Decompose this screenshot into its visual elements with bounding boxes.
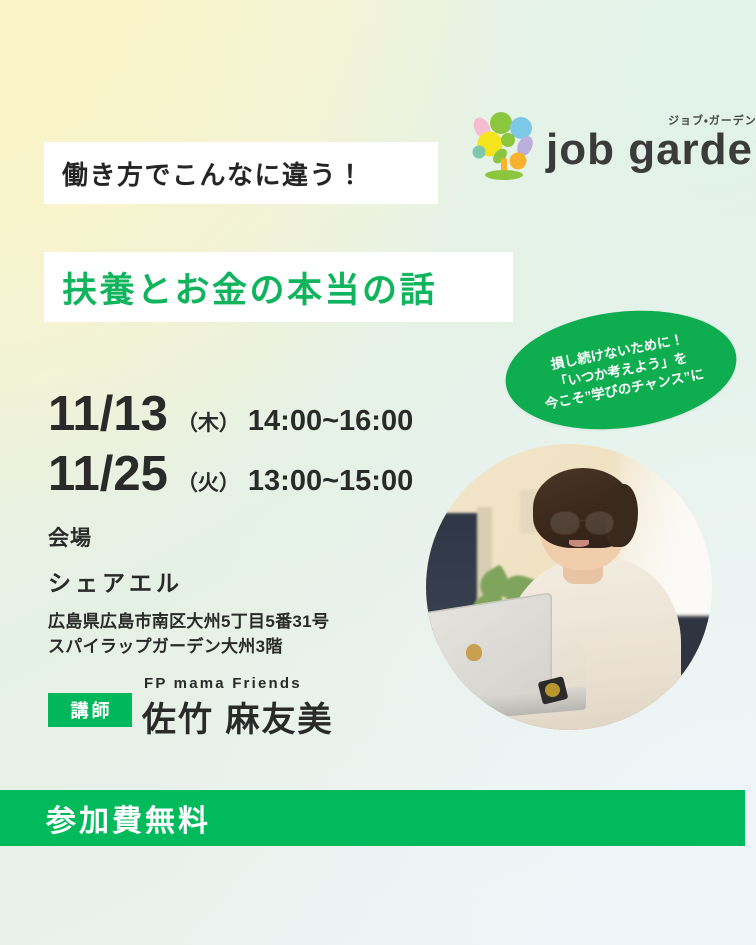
schedule-time: 13:00~15:00 xyxy=(248,465,413,498)
logo-wordmark-text: job garden xyxy=(546,126,756,174)
schedule-day-of-week: （木） xyxy=(177,407,240,437)
schedule-date: 11/25 xyxy=(48,446,168,502)
headline-sub-plate: 働き方でこんなに違う！ xyxy=(44,142,438,204)
portrait-glasses-right xyxy=(585,511,614,534)
portrait-glasses-left xyxy=(550,511,579,534)
headline-main-text: 扶養とお金の本当の話 xyxy=(62,262,437,313)
instructor-block: 講師 FP mama Friends 佐竹 麻友美 xyxy=(48,675,398,737)
logo-wordmark-block: ジョブ・ガーデン job garden xyxy=(546,112,732,176)
portrait-glasses-bridge xyxy=(578,520,587,522)
instructor-badge: 講師 xyxy=(48,693,132,727)
schedule-row: 11/25 （火） 13:00~15:00 xyxy=(48,446,468,506)
catchcopy-text: 損し続けないために！ 「いつか考えよう」を 今こそ”学びのチャンス”に xyxy=(536,327,706,414)
job-garden-logo[interactable]: ジョブ・ガーデン job garden xyxy=(468,104,730,184)
venue-block: 会場 シェアエル 広島県広島市南区大州5丁目5番31号 スパイラップガーデン大州… xyxy=(48,522,388,659)
headline-sub-text: 働き方でこんなに違う！ xyxy=(62,155,365,192)
catchcopy-oval-badge: 損し続けないために！ 「いつか考えよう」を 今こそ”学びのチャンス”に xyxy=(499,298,743,441)
instructor-portrait xyxy=(426,444,712,730)
instructor-name: 佐竹 麻友美 xyxy=(142,692,333,741)
flyer-canvas: ジョブ・ガーデン job garden 働き方でこんなに違う！ 扶養とお金の本当… xyxy=(0,0,756,945)
venue-label: 会場 xyxy=(48,522,388,552)
schedule-date: 11/13 xyxy=(48,386,168,442)
instructor-organization: FP mama Friends xyxy=(144,675,302,692)
free-admission-banner: 参加費無料 xyxy=(0,790,745,846)
venue-name: シェアエル xyxy=(48,564,388,598)
free-admission-text: 参加費無料 xyxy=(46,796,211,840)
venue-address-line1: 広島県広島市南区大州5丁目5番31号 xyxy=(48,609,388,634)
tree-logo-icon xyxy=(468,106,544,182)
venue-address-line2: スパイラップガーデン大州3階 xyxy=(48,634,388,659)
schedule-day-of-week: （火） xyxy=(177,467,240,497)
portrait-scene xyxy=(426,444,712,730)
schedule-list: 11/13 （木） 14:00~16:00 11/25 （火） 13:00~15… xyxy=(48,386,468,506)
schedule-row: 11/13 （木） 14:00~16:00 xyxy=(48,386,468,446)
apple-logo-icon xyxy=(466,644,482,661)
schedule-time: 14:00~16:00 xyxy=(248,405,413,438)
headline-main-plate: 扶養とお金の本当の話 xyxy=(44,252,513,322)
